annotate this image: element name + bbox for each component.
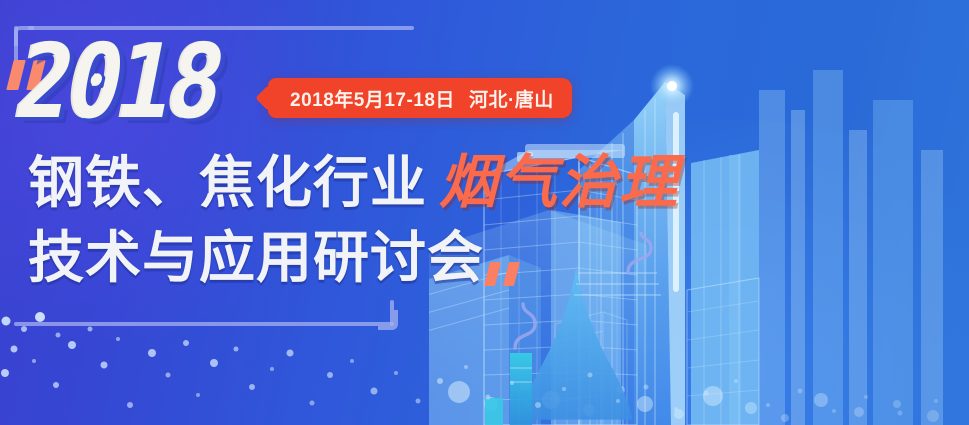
headline-subject-text: 技术与应用研讨会 <box>28 226 484 290</box>
year-display: 2018 <box>9 34 229 132</box>
headline-line-1: 钢铁、焦化行业 烟气治理 <box>28 150 748 216</box>
badge-date-text: 2018年5月17-18日 <box>290 85 455 112</box>
date-location-badge: 2018年5月17-18日 河北·唐山 <box>268 78 572 118</box>
headline-industry-text: 钢铁、焦化行业 <box>28 151 427 215</box>
conference-banner: 2018 2018年5月17-18日 河北·唐山 钢铁、焦化行业 烟气治理 技术… <box>0 0 969 425</box>
badge-location-text: 河北·唐山 <box>469 85 554 112</box>
headline-block: 钢铁、焦化行业 烟气治理 技术与应用研讨会 <box>28 150 748 290</box>
headline-line-2: 技术与应用研讨会 <box>28 226 748 290</box>
headline-topic-text: 烟气治理 <box>439 150 679 216</box>
badge-notch-icon <box>255 85 280 110</box>
